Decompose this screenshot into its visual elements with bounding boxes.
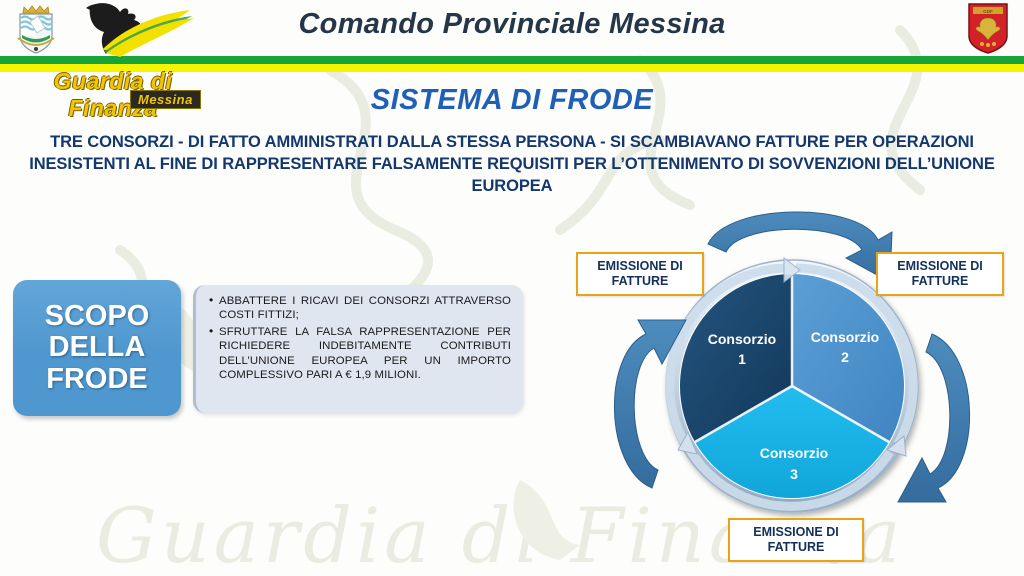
page-title: Comando Provinciale Messina — [0, 8, 1024, 41]
slide-title: SISTEMA DI FRODE — [0, 84, 1024, 117]
label-emissione-fatture-right: EMISSIONE DI FATTURE — [876, 252, 1004, 296]
purpose-line-3: FRODE — [45, 364, 150, 395]
purpose-line-2: DELLA — [45, 332, 150, 363]
purpose-box-text: SCOPO DELLA FRODE — [45, 301, 150, 394]
list-item: SFRUTTARE LA FALSA RAPPRESENTAZIONE PER … — [208, 325, 511, 383]
svg-text:GDF: GDF — [983, 9, 993, 14]
page-header: Comando Provinciale Messina GDF — [0, 0, 1024, 72]
segment-3-name: Consorzio — [760, 445, 828, 461]
segment-1-name: Consorzio — [708, 331, 776, 347]
segment-2-name: Consorzio — [811, 329, 879, 345]
slide-subtitle: TRE CONSORZI - DI FATTO AMMINISTRATI DAL… — [16, 132, 1008, 197]
red-shield-eagle-icon: GDF — [966, 2, 1010, 54]
cycle-diagram: Consorzio 1 Consorzio 2 Consorzio 3 EMIS… — [560, 196, 1024, 576]
label-emissione-fatture-bottom: EMISSIONE DI FATTURE — [728, 518, 864, 562]
list-item: ABBATTERE I RICAVI DEI CONSORZI ATTRAVER… — [208, 294, 511, 323]
bullet-list-box: ABBATTERE I RICAVI DEI CONSORZI ATTRAVER… — [193, 285, 523, 413]
bullet-list: ABBATTERE I RICAVI DEI CONSORZI ATTRAVER… — [208, 294, 511, 383]
slide-canvas: Guardia di Finanza — [0, 0, 1024, 576]
purpose-line-1: SCOPO — [45, 301, 150, 332]
segment-1-number: 1 — [738, 351, 746, 367]
label-emissione-fatture-left: EMISSIONE DI FATTURE — [576, 252, 704, 296]
purpose-box: SCOPO DELLA FRODE — [13, 280, 181, 416]
segment-3-number: 3 — [790, 466, 798, 482]
segment-2-number: 2 — [841, 349, 849, 365]
